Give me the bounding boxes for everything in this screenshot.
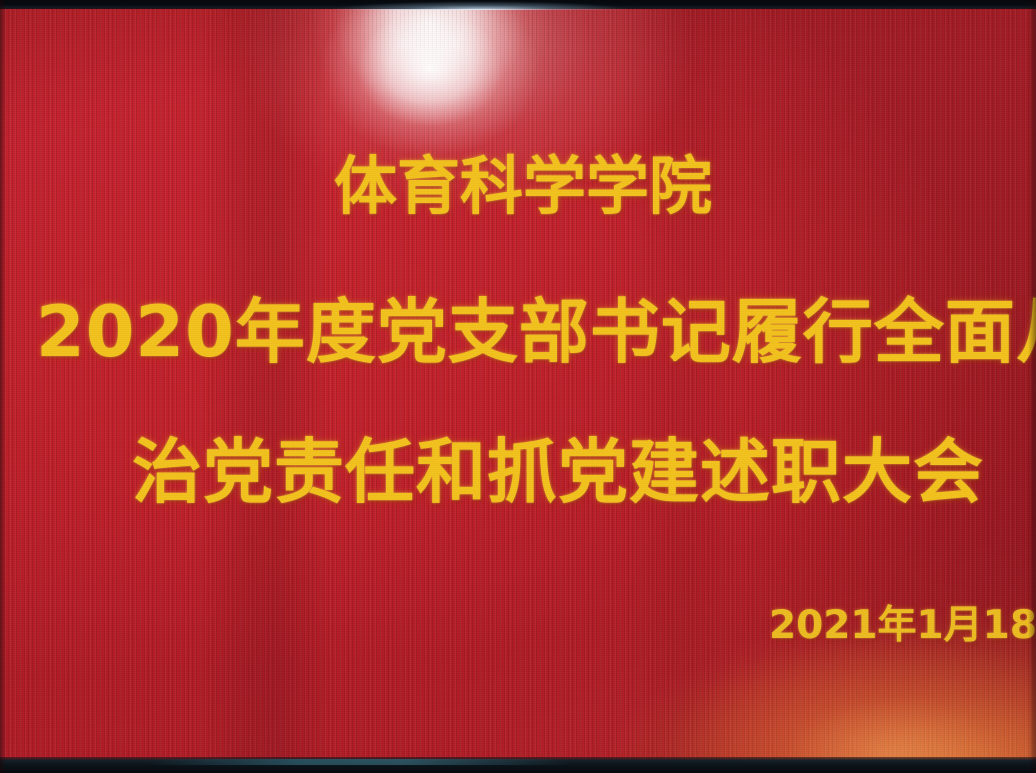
event-date: 2021年1月18日	[769, 606, 1036, 645]
red-banner-background	[0, 0, 1036, 773]
organization-line: 体育科学学院	[334, 155, 712, 218]
banner-photo: 体育科学学院 2020年度党支部书记履行全面从严 治党责任和抓党建述职大会 20…	[0, 0, 1036, 773]
title-line-2: 治党责任和抓党建述职大会	[132, 437, 984, 507]
title-line-1: 2020年度党支部书记履行全面从严	[36, 297, 1036, 367]
